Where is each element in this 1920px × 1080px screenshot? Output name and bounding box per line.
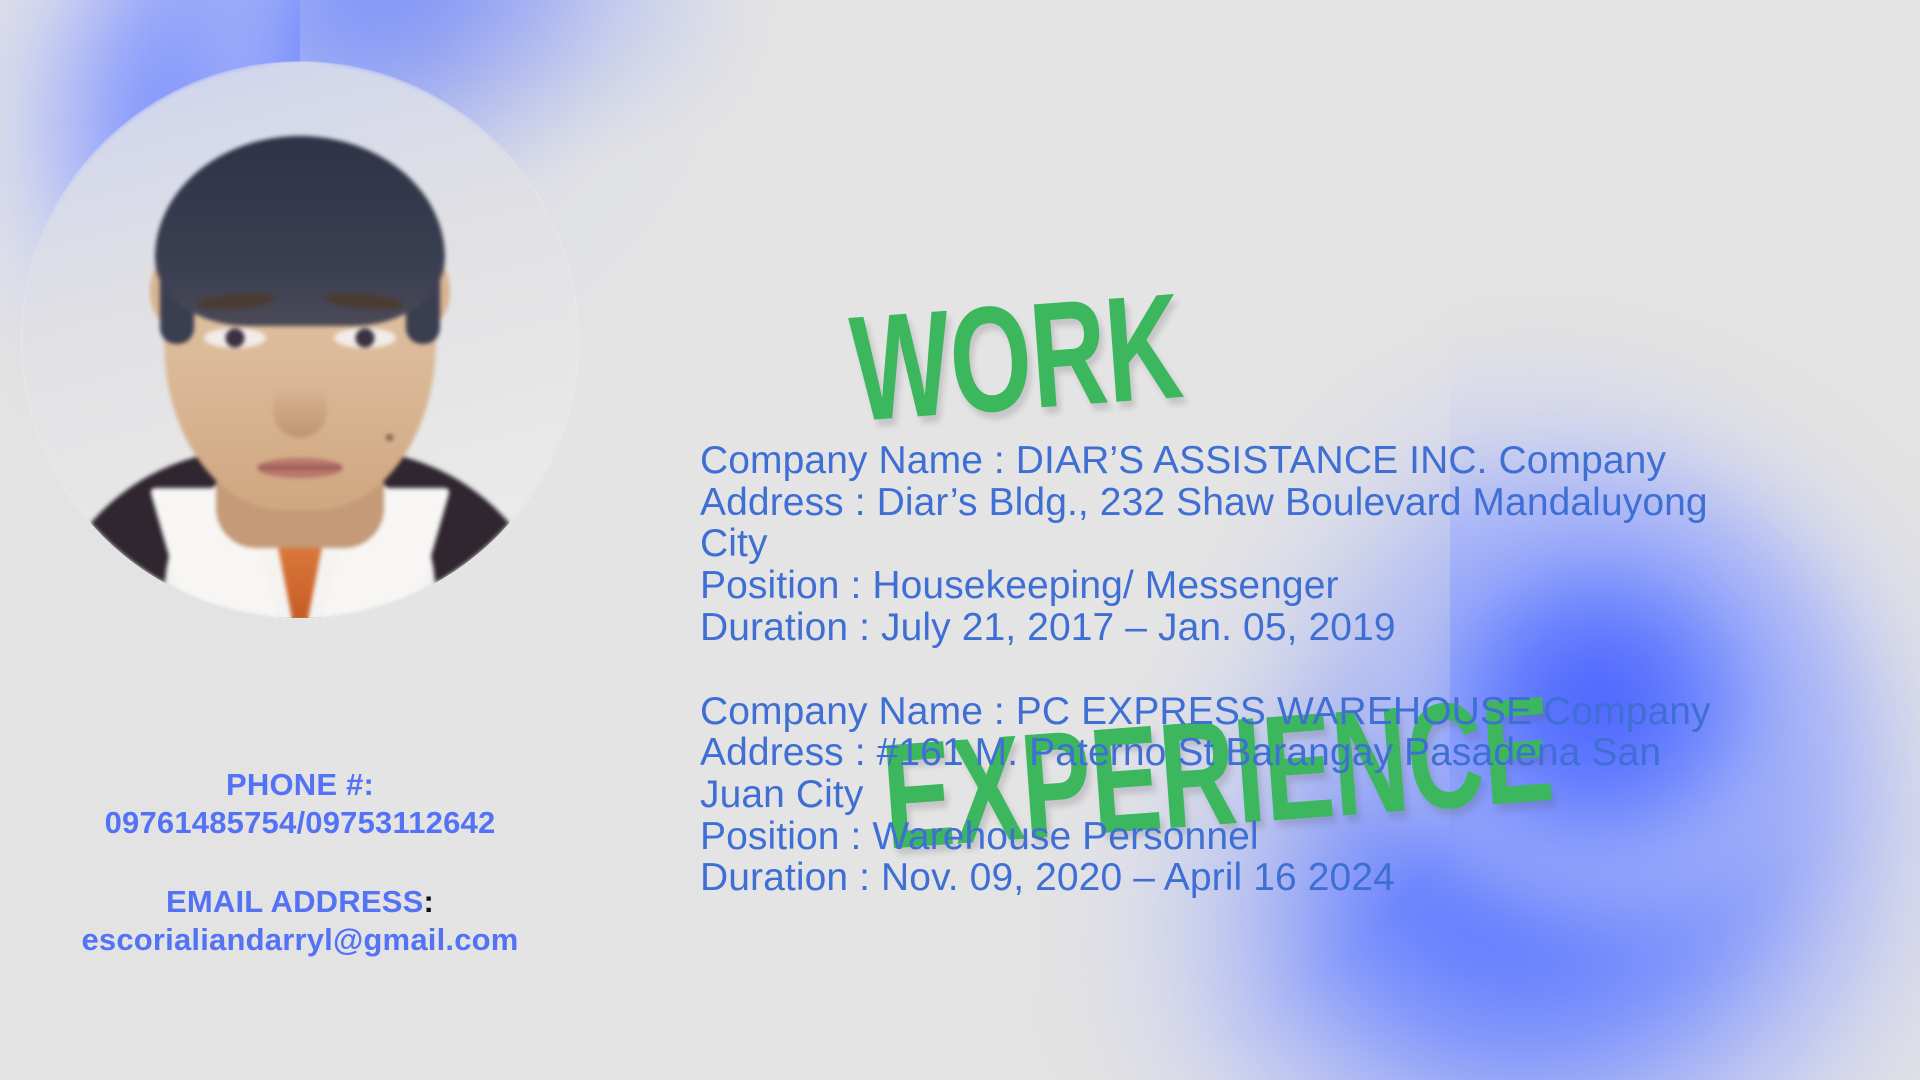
phone-label-row: PHONE #:: [30, 766, 570, 804]
slide-canvas: PHONE #: 09761485754/09753112642 EMAIL A…: [0, 0, 1920, 1080]
job-position: Position : Housekeeping/ Messenger: [700, 565, 1770, 607]
job-address-overflow: City: [700, 523, 1770, 565]
job-company: Company Name : DIAR’S ASSISTANCE INC. Co…: [700, 440, 1770, 482]
job-duration: Duration : July 21, 2017 – Jan. 05, 2019: [700, 607, 1770, 649]
email-label: EMAIL ADDRESS: [166, 884, 424, 919]
job-entry: Company Name : DIAR’S ASSISTANCE INC. Co…: [700, 440, 1770, 649]
job-address: Address : #161 M. Paterno St Barangay Pa…: [700, 732, 1770, 774]
phone-colon: :: [363, 767, 374, 802]
profile-photo-image: [22, 62, 578, 618]
contact-block: PHONE #: 09761485754/09753112642 EMAIL A…: [30, 766, 570, 960]
job-company: Company Name : PC EXPRESS WAREHOUSE Comp…: [700, 691, 1770, 733]
phone-value[interactable]: 09761485754/09753112642: [30, 804, 570, 842]
phone-label: PHONE #: [226, 767, 364, 802]
job-entry: Company Name : PC EXPRESS WAREHOUSE Comp…: [700, 691, 1770, 900]
work-experience-list: Company Name : DIAR’S ASSISTANCE INC. Co…: [700, 440, 1770, 899]
contact-email-group: EMAIL ADDRESS: escorialiandarryl@gmail.c…: [30, 883, 570, 960]
email-colon: :: [424, 884, 435, 919]
email-label-row: EMAIL ADDRESS:: [30, 883, 570, 921]
job-position: Position : Warehouse Personnel: [700, 816, 1770, 858]
page-title-line-1: WORK: [847, 250, 1525, 440]
photo-softening-overlay: [22, 62, 578, 618]
email-value[interactable]: escorialiandarryl@gmail.com: [30, 921, 570, 959]
profile-photo: [22, 62, 578, 618]
job-address-overflow: Juan City: [700, 774, 1770, 816]
contact-phone-group: PHONE #: 09761485754/09753112642: [30, 766, 570, 843]
job-duration: Duration : Nov. 09, 2020 – April 16 2024: [700, 857, 1770, 899]
job-address: Address : Diar’s Bldg., 232 Shaw Bouleva…: [700, 482, 1770, 524]
